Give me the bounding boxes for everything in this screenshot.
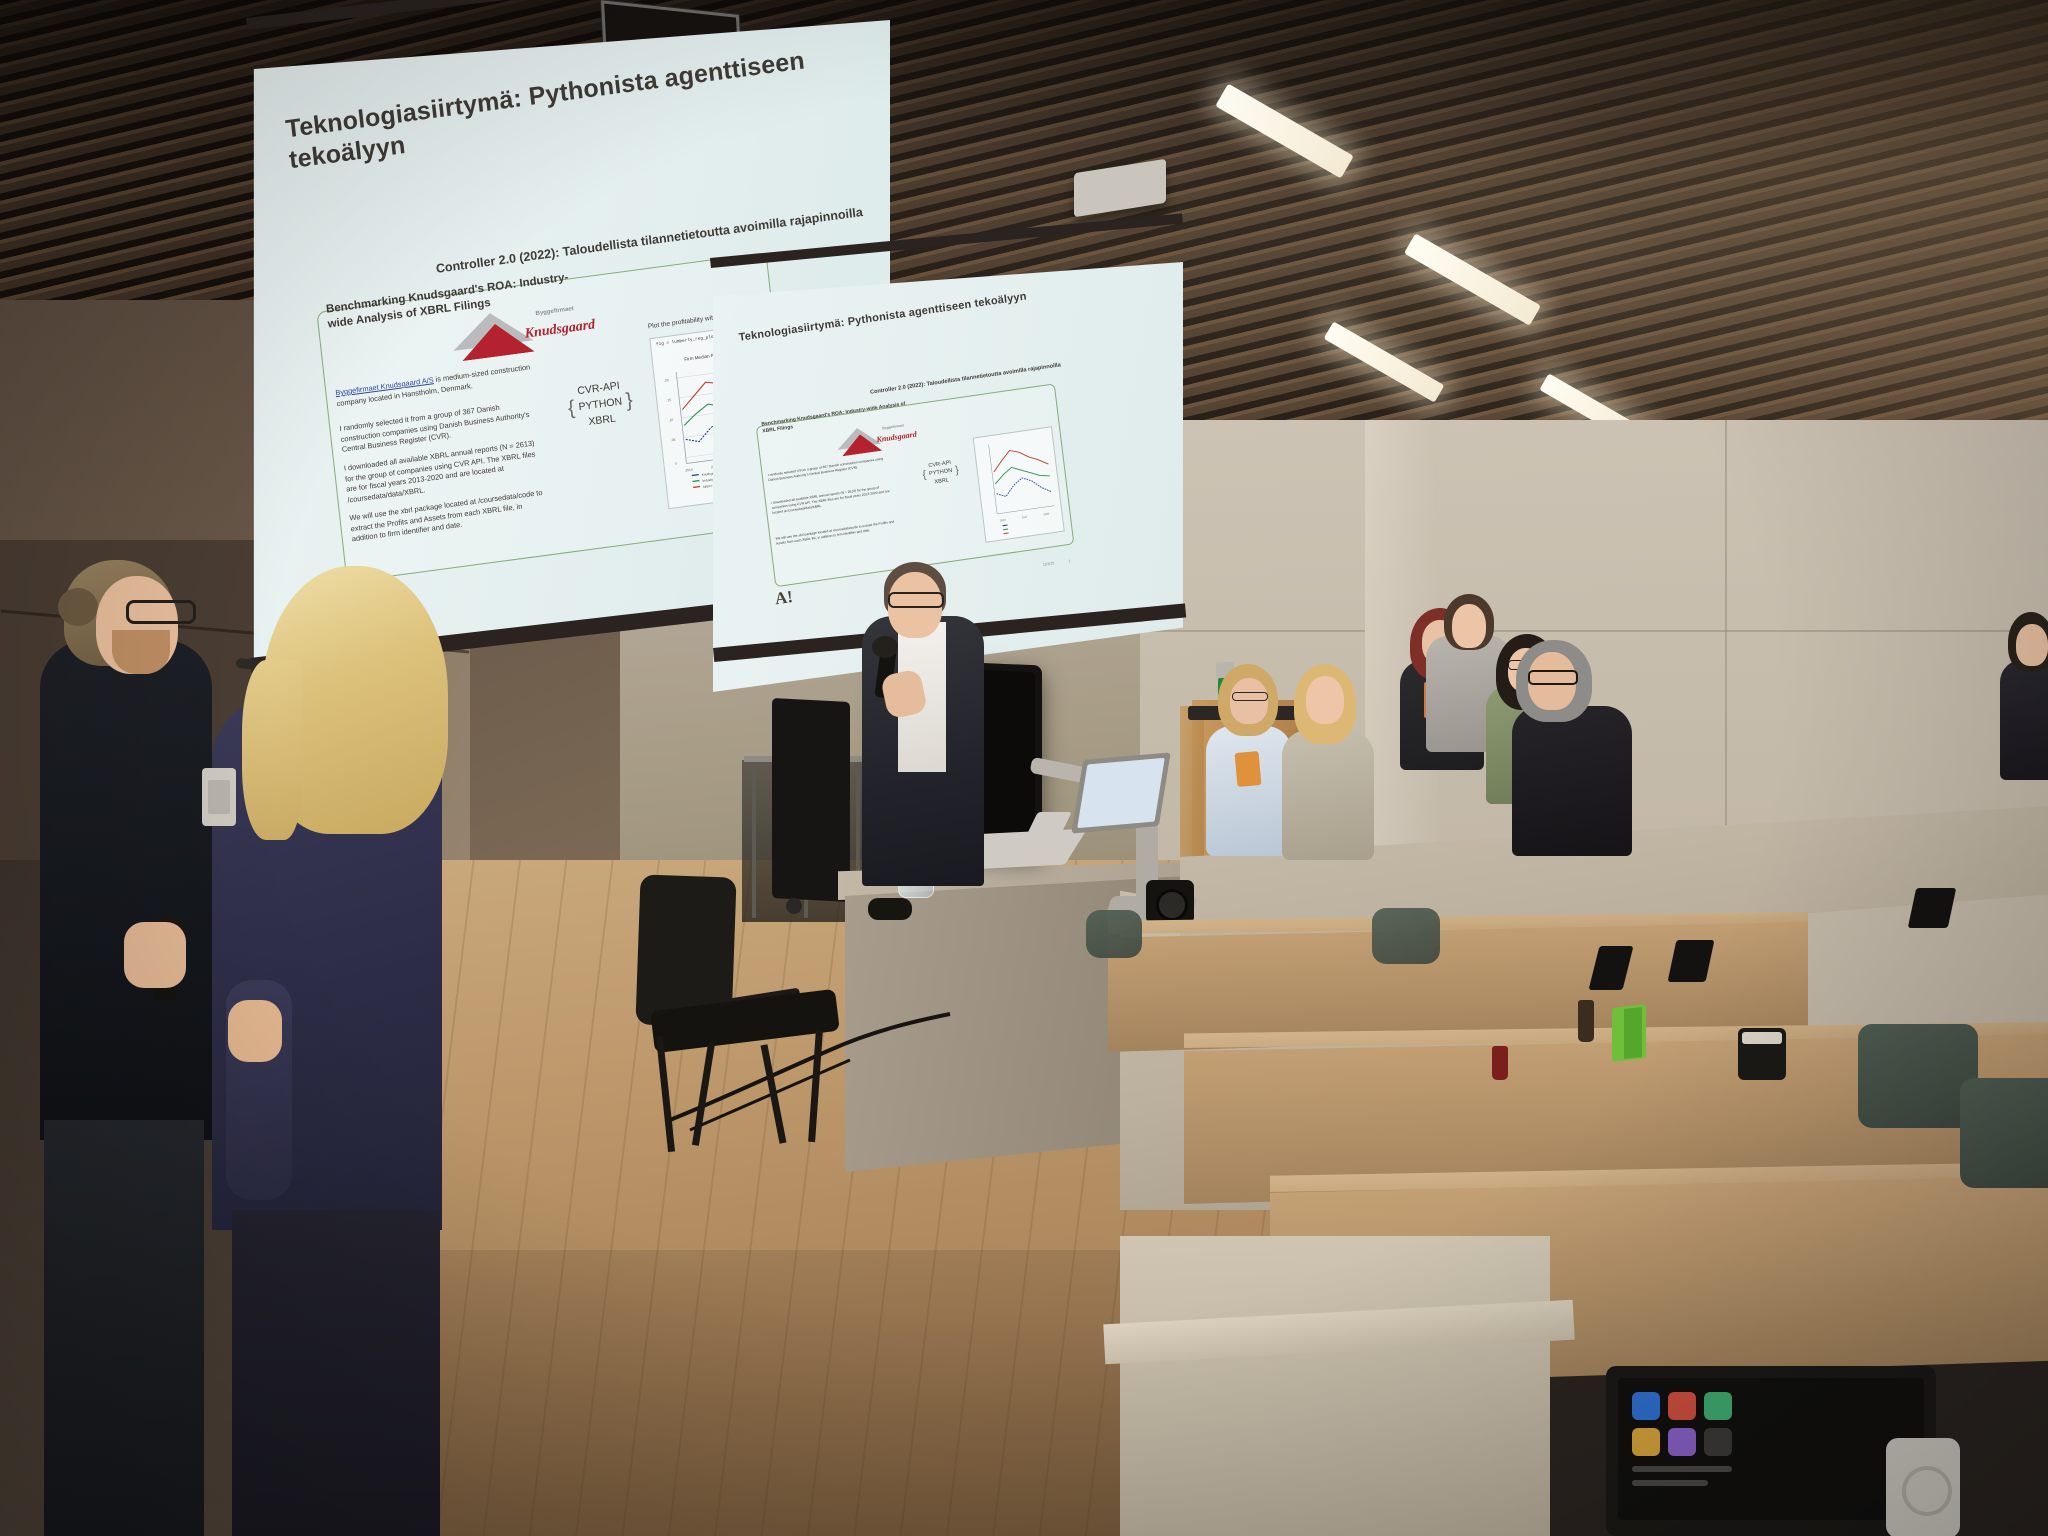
auditorium-seat[interactable] xyxy=(1372,908,1440,964)
audience-person-head xyxy=(2016,624,2048,666)
trolley-wheel xyxy=(786,898,802,914)
slide2-roa-chart-panel: 201320172020 xyxy=(973,426,1065,543)
logo-small-text: Byggefirmaet xyxy=(535,306,574,317)
slide2-roa-line-chart: 201320172020 xyxy=(974,427,1064,541)
brace-right-icon: } xyxy=(625,395,633,407)
audience-person-body xyxy=(2000,660,2048,780)
audience-person-body xyxy=(1512,706,1632,856)
svg-text:2020: 2020 xyxy=(1043,511,1050,516)
lecture-hall-photo: EXIT Teknologiasiirtymä: Pytho xyxy=(0,0,2048,1536)
slide2-aalto-logo: A! xyxy=(774,587,794,609)
audience-person-body xyxy=(1206,726,1292,856)
brace-left-icon: { xyxy=(922,472,926,478)
svg-text:.10: .10 xyxy=(668,418,673,423)
beard xyxy=(112,630,170,674)
front-desk-lower xyxy=(1120,1236,1550,1536)
brace-left-icon: { xyxy=(568,403,576,415)
floor-shadow xyxy=(380,1250,1140,1536)
standing-woman-skirt xyxy=(232,1210,440,1536)
slide2-footer-date: 11/2/25 xyxy=(1042,561,1054,567)
audience-person-head xyxy=(1306,676,1344,724)
phone-camera-icon xyxy=(1902,1466,1952,1516)
neck-scarf xyxy=(1235,751,1262,787)
standing-woman-hair-strand xyxy=(242,660,302,840)
audience-person-body xyxy=(1282,730,1374,860)
microphone-head-icon xyxy=(872,636,898,658)
document-camera[interactable] xyxy=(1146,880,1194,924)
brace-right-icon: } xyxy=(955,468,959,474)
laptop-screen[interactable] xyxy=(1071,752,1170,833)
audience-person-head xyxy=(1230,678,1268,724)
standing-man-legs xyxy=(44,1120,204,1536)
hair-bun xyxy=(58,588,98,626)
drink-bottle[interactable] xyxy=(1578,1000,1594,1042)
audience-laptop[interactable] xyxy=(1908,888,1957,928)
svg-text:0: 0 xyxy=(675,462,677,466)
auditorium-seat[interactable] xyxy=(1960,1078,2048,1188)
standing-woman-hand xyxy=(228,1000,282,1062)
cup-label xyxy=(1742,1032,1782,1044)
slide2-footer-page: 1 xyxy=(1068,559,1070,563)
eyeglasses-icon xyxy=(1232,692,1268,701)
computer-mouse[interactable] xyxy=(868,898,912,920)
standing-man-torso xyxy=(40,640,212,1140)
presenter-eyeglasses-icon xyxy=(888,592,944,608)
svg-text:.20: .20 xyxy=(664,378,669,383)
standing-man-eyeglasses-icon xyxy=(126,600,196,624)
svg-text:2013: 2013 xyxy=(1000,518,1007,523)
auditorium-seat[interactable] xyxy=(1086,910,1142,958)
slide-title: Teknologiasiirtymä: Pythonista agenttise… xyxy=(284,41,846,177)
audience-person-head xyxy=(1452,604,1486,648)
standing-man-hand xyxy=(124,922,186,988)
svg-text:2013: 2013 xyxy=(685,468,693,473)
svg-text:.15: .15 xyxy=(666,398,671,403)
svg-text:2017: 2017 xyxy=(1022,515,1029,520)
eyeglasses-icon xyxy=(1528,670,1578,685)
svg-text:.05: .05 xyxy=(671,438,676,443)
drink-bottle[interactable] xyxy=(1492,1046,1508,1080)
